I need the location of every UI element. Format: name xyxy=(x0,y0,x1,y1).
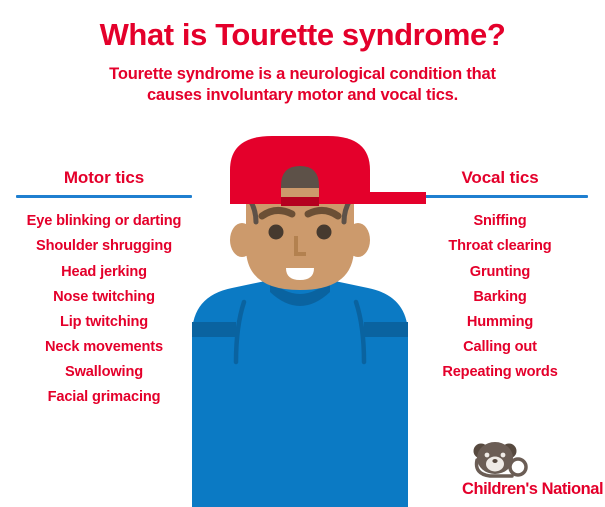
bear-muzzle xyxy=(486,457,504,472)
vocal-tics-list: Sniffing Throat clearing Grunting Barkin… xyxy=(404,198,596,385)
list-item: Humming xyxy=(404,310,596,335)
boy-illustration xyxy=(170,130,430,507)
subtitle-line-1: Tourette syndrome is a neurological cond… xyxy=(109,65,496,83)
cap-brim xyxy=(368,192,426,204)
childrens-national-logo: Children's National xyxy=(462,440,600,502)
left-eye xyxy=(269,225,284,240)
left-sleeve-cuff xyxy=(192,322,236,337)
bear-nose xyxy=(492,459,497,463)
cap-opening-skin-band xyxy=(281,188,319,197)
vocal-tics-column: Vocal tics Sniffing Throat clearing Grun… xyxy=(404,168,596,385)
list-item: Barking xyxy=(404,285,596,310)
bear-left-eye xyxy=(485,453,490,458)
list-item: Throat clearing xyxy=(404,234,596,259)
subtitle-line-2: causes involuntary motor and vocal tics. xyxy=(147,86,458,104)
bear-right-eye xyxy=(501,453,506,458)
vocal-tics-heading: Vocal tics xyxy=(404,168,596,188)
right-eye xyxy=(317,225,332,240)
list-item: Calling out xyxy=(404,335,596,360)
teddy-bear-icon xyxy=(468,440,540,480)
page-title: What is Tourette syndrome? xyxy=(0,0,605,52)
infographic-root: What is Tourette syndrome? Tourette synd… xyxy=(0,0,605,507)
list-item: Sniffing xyxy=(404,209,596,234)
logo-wordmark: Children's National xyxy=(462,480,600,498)
page-subtitle: Tourette syndrome is a neurological cond… xyxy=(0,52,605,106)
boy-illustration-svg xyxy=(170,130,430,507)
right-sleeve-cuff xyxy=(364,322,408,337)
list-item: Grunting xyxy=(404,260,596,285)
list-item: Repeating words xyxy=(404,360,596,385)
header: What is Tourette syndrome? Tourette synd… xyxy=(0,0,605,106)
shirt-torso xyxy=(192,280,408,507)
cap-strap xyxy=(281,197,319,206)
